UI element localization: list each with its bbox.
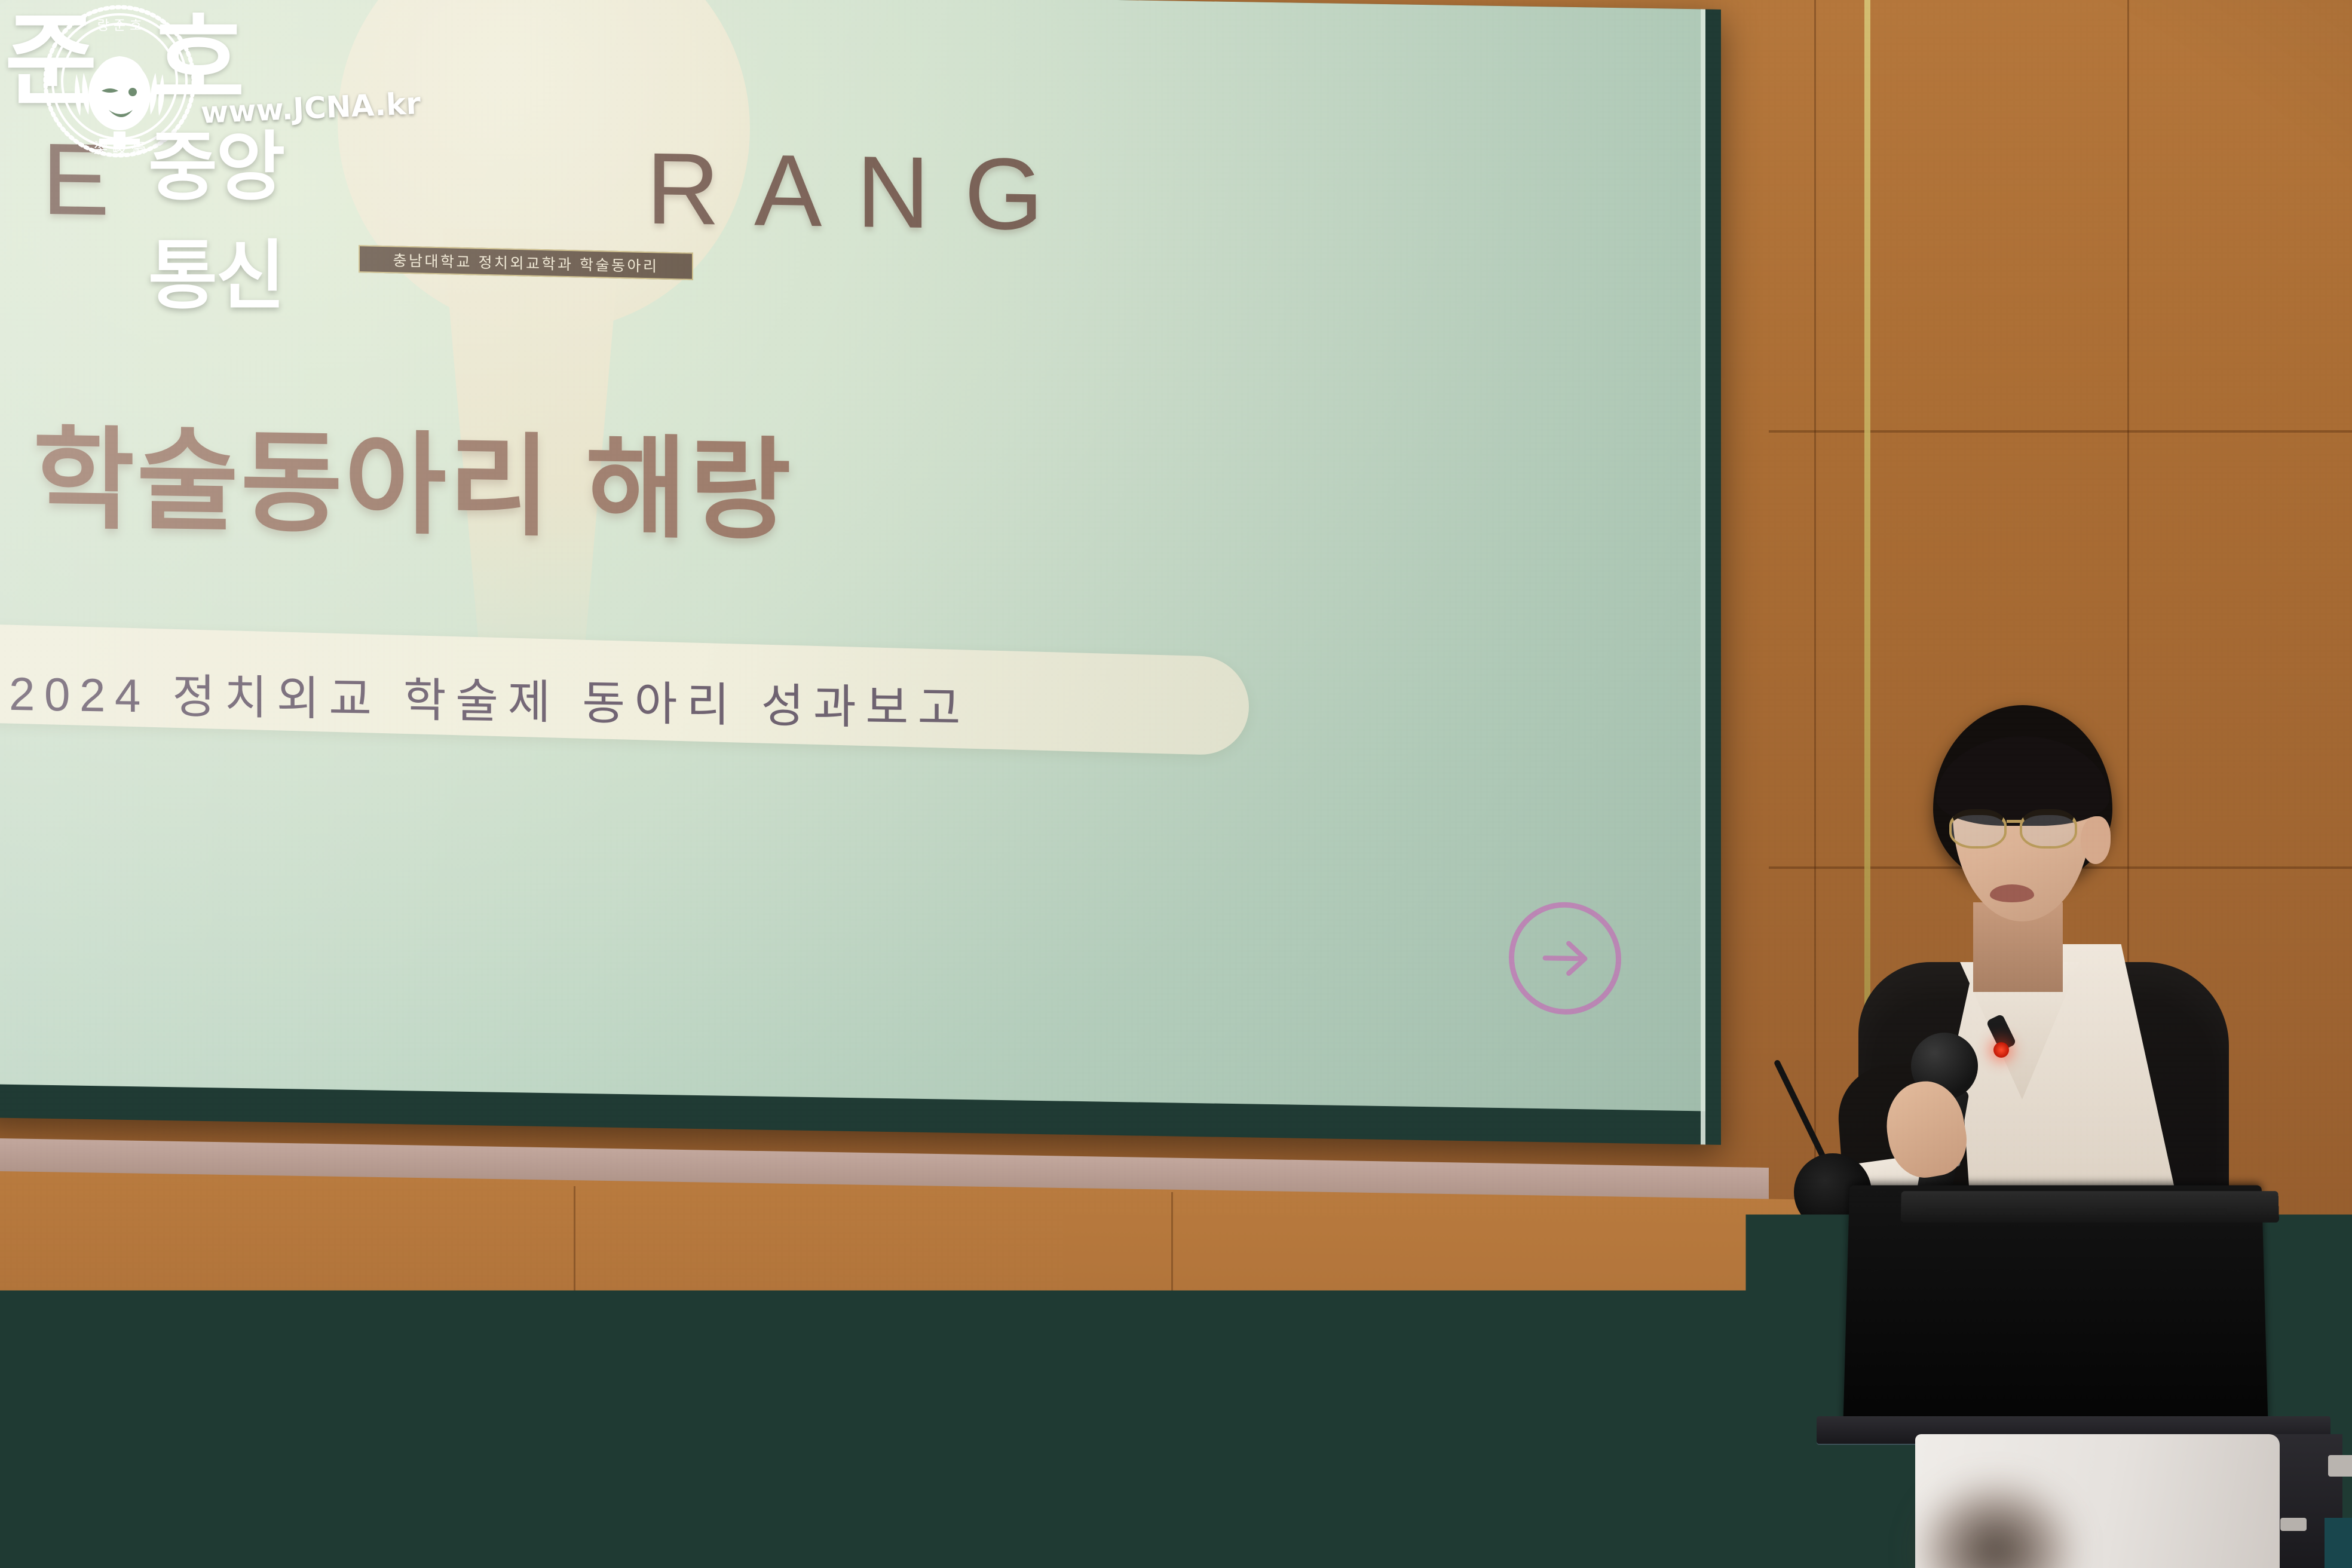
lectern-control-knob: [2280, 1518, 2307, 1531]
arrow-right-glyph: [1534, 927, 1596, 990]
seal-top-label: 랑 준 호: [97, 19, 142, 33]
glasses-bridge: [2007, 820, 2021, 823]
lectern: [1811, 1183, 2352, 1568]
riser-seam: [0, 1327, 1823, 1329]
glasses-lens-left: [1949, 809, 2007, 849]
monitor-icon: [1843, 1186, 2268, 1424]
lectern-teal-object: [2325, 1518, 2352, 1568]
department-band-label: 충남대학교 정치외교학과 학술동아리: [393, 249, 659, 276]
glasses-icon: [1947, 808, 2096, 850]
audience-silhouette: [1918, 1482, 2074, 1568]
riser-seam: [1171, 1192, 1173, 1568]
audience-silhouette: [711, 1476, 890, 1568]
monitor-bezel: [1901, 1191, 2279, 1223]
seal-bottom-label: 梁 峻 豪: [93, 140, 145, 157]
photo-canvas: 충남대학교 정치외교학과 학술동아리 E RANG 학술동아리 해랑 2024 …: [0, 0, 2352, 1568]
microphone-led-indicator: [1993, 1042, 2009, 1058]
slide-title: 학술동아리 해랑: [33, 389, 793, 561]
glasses-lens-right: [2020, 809, 2077, 849]
arrow-right-icon: [1509, 901, 1621, 1015]
watermark-agency-name: 중앙통신: [148, 106, 311, 324]
lectern-shelf: [2328, 1455, 2352, 1477]
riser-seam: [574, 1186, 575, 1568]
stage-riser-front: [0, 1171, 1840, 1568]
monitor-vent: [2097, 1208, 2227, 1213]
presenter-mouth: [1990, 884, 2034, 902]
monitor-vent: [1926, 1208, 2056, 1213]
screen-right-edge: [1701, 9, 1705, 1144]
watermark: 준 호: [0, 0, 311, 179]
wall-seam: [1769, 430, 2352, 433]
